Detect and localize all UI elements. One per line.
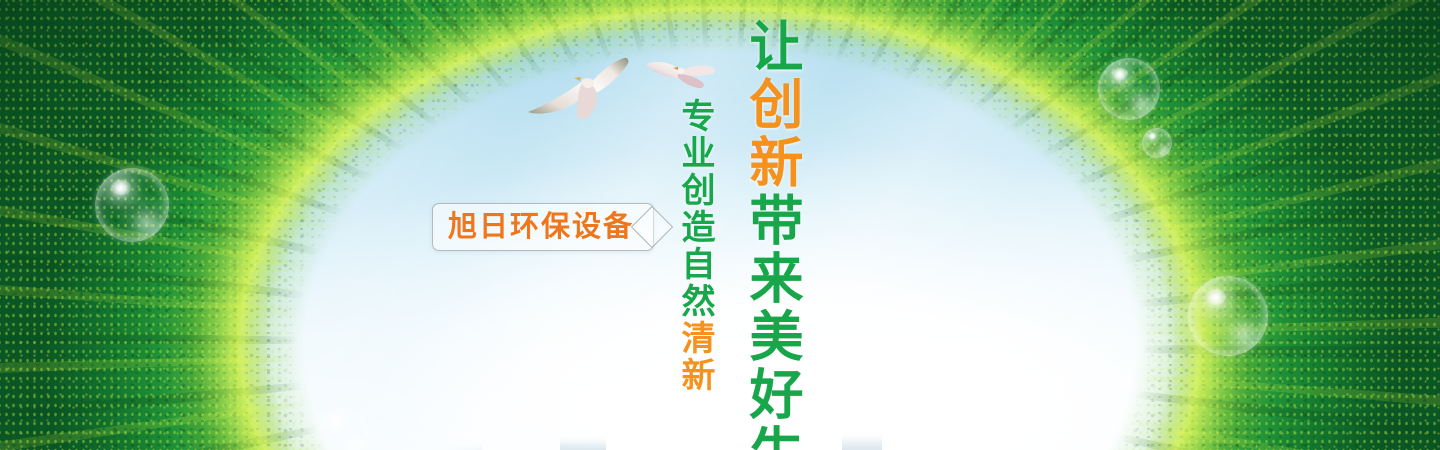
bubble-right-small [1142,128,1172,158]
eco-equipment-hero-banner: 让创新带来美好生活 专业创造自然清新 旭日环保设备 [0,0,1440,450]
headline-vertical: 让创新带来美好生活 [724,18,798,450]
bubble-right [1188,276,1268,356]
brand-plate[interactable]: 旭日环保设备 [432,203,654,251]
bubble-bottom-left [320,408,368,450]
headline-segment-2: 创新 [741,76,801,192]
subline-segment-2: 清新 [676,320,714,394]
headline-segment-3: 带来美好生活 [741,192,801,450]
bubble-left [95,168,169,242]
seagull-large [520,56,650,126]
bubble-top-right [1098,58,1160,120]
subline-vertical: 专业创造自然清新 [664,98,712,394]
seagull-small [640,50,726,102]
brand-name-label: 旭日环保设备 [448,213,638,242]
subline-segment-1: 专业创造自然 [676,98,714,320]
headline-segment-1: 让 [741,18,801,76]
